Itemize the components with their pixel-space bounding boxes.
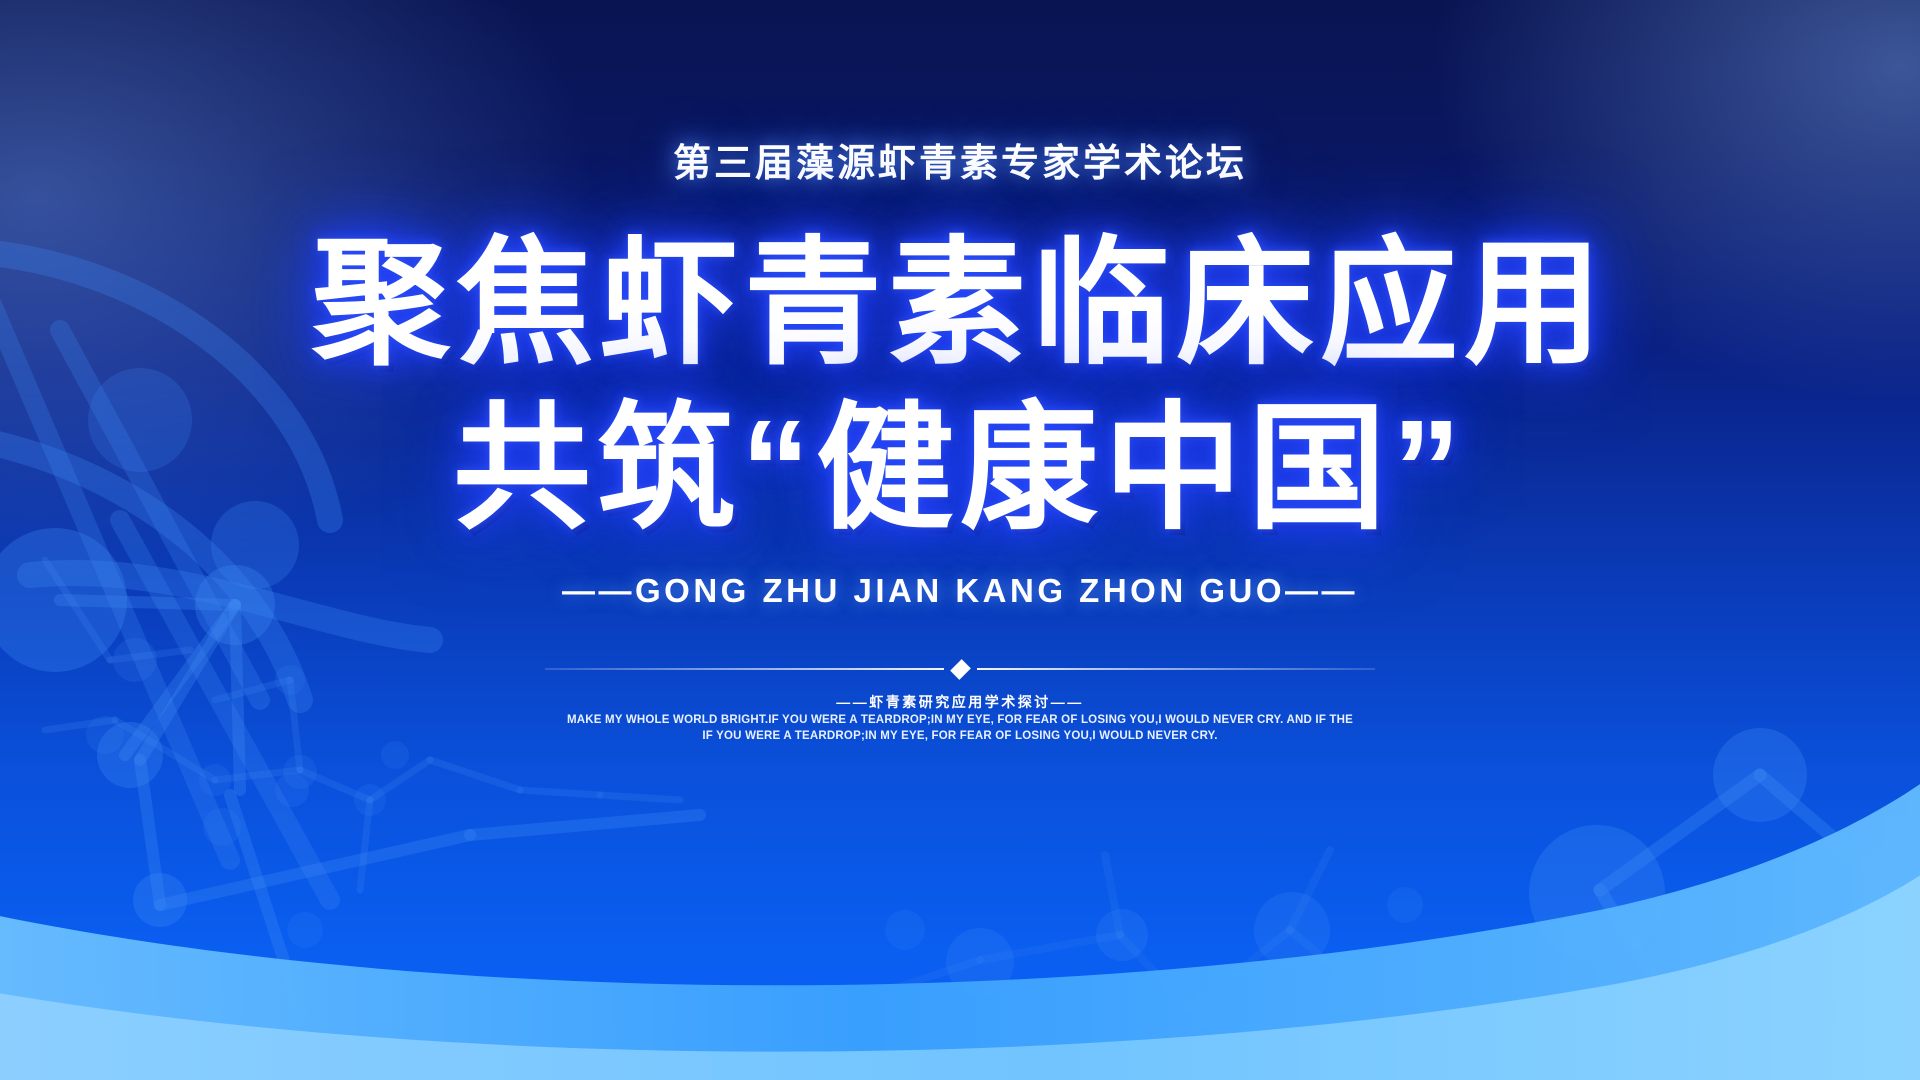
poster-canvas: 第三届藻源虾青素专家学术论坛 聚焦虾青素临床应用 共筑“健康中国” ——GONG… [0,0,1920,1080]
headline-line-2-text: 共筑“健康中国” [453,400,1467,538]
micro-copy-line-2: IF YOU WERE A TEARDROP;IN MY EYE, FOR FE… [0,730,1920,742]
divider-rule-left [545,668,944,670]
headline-line-1: 聚焦虾青素临床应用 [0,235,1920,373]
pinyin-subtitle: ——GONG ZHU JIAN KANG ZHON GUO—— [0,572,1920,610]
divider-rule-right [977,668,1376,670]
micro-copy-line-1: MAKE MY WHOLE WORLD BRIGHT.IF YOU WERE A… [0,714,1920,726]
diamond-icon [950,659,971,680]
ornamental-divider [545,660,1375,678]
headline-line-1-text: 聚焦虾青素临床应用 [312,235,1608,373]
forum-eyebrow-title: 第三届藻源虾青素专家学术论坛 [0,132,1920,187]
headline-line-2: 共筑“健康中国” [0,400,1920,538]
seminar-subtitle-cn: ——虾青素研究应用学术探讨—— [0,692,1920,712]
